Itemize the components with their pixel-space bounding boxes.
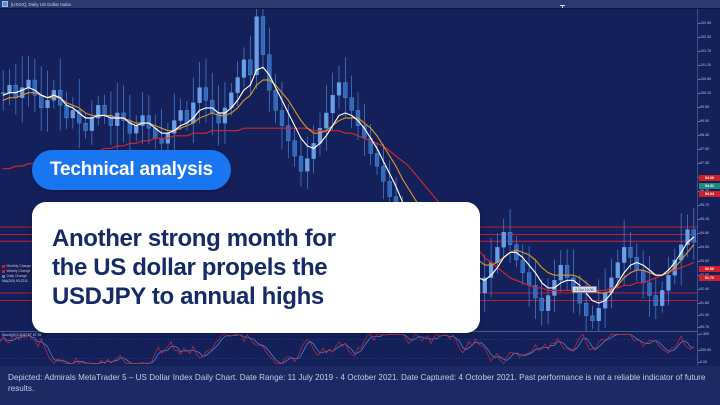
price-tick: 91.85 — [698, 301, 720, 306]
chart-titlebar[interactable]: [USDX], Daily US Dollar Index — [0, 0, 720, 9]
price-tick: 94.05 — [698, 245, 720, 250]
legend-color-swatch — [2, 275, 5, 278]
technical-analysis-badge[interactable]: Technical analysis — [32, 150, 231, 190]
headline-card: Another strong month for the US dollar p… — [32, 202, 480, 333]
price-tick: 102.30 — [698, 35, 720, 40]
oscillator-label: Stoch(20,3,3) 82.97 87.35 — [2, 333, 41, 337]
legend-item-ma: MA(200) 93.2211 — [2, 279, 31, 284]
price-tick: 95.70 — [698, 203, 720, 208]
price-tag: 94.60 — [699, 175, 720, 181]
price-tick: 97.35 — [698, 161, 720, 166]
price-tag: 92.00 — [699, 266, 720, 272]
legend-color-swatch — [2, 265, 5, 268]
price-tick: 93.50 — [698, 259, 720, 264]
price-tick: 90.75 — [698, 325, 720, 330]
price-tick: 102.95 — [698, 21, 720, 26]
oscillator-subwindow[interactable] — [0, 332, 697, 366]
price-scale-axis[interactable]: 102.95102.30101.75101.20100.65100.1099.5… — [697, 9, 720, 366]
chart-window-icon — [2, 1, 8, 7]
caption-bar: Depicted: Admirals MetaTrader 5 – US Dol… — [0, 366, 720, 405]
headline-line-1: Another strong month for — [52, 224, 336, 253]
chart-legend: Monthly Change Weekly Change Daily Chang… — [2, 264, 31, 284]
oscillator-svg — [0, 332, 697, 366]
subwindow-tick: 0.00 — [698, 360, 720, 365]
legend-color-swatch — [2, 270, 5, 273]
price-tick: 100.10 — [698, 91, 720, 96]
time-tag: 3 Oct 19:30 — [572, 286, 597, 293]
price-tag: 94.04 — [699, 191, 720, 197]
price-tick: 94.60 — [698, 231, 720, 236]
price-tick: 99.55 — [698, 105, 720, 110]
headline-line-3: USDJPY to annual highs — [52, 282, 336, 311]
price-tick: 99.00 — [698, 119, 720, 124]
headline-text: Another strong month for the US dollar p… — [32, 224, 356, 312]
price-tag: 91.70 — [699, 275, 720, 281]
price-tick: 98.45 — [698, 133, 720, 138]
subwindow-tick: 1.399 — [698, 332, 720, 337]
price-tick: 91.30 — [698, 313, 720, 318]
price-tag: 94.31 — [699, 183, 720, 189]
price-tick: 101.20 — [698, 63, 720, 68]
headline-line-2: the US dollar propels the — [52, 253, 336, 282]
subwindow-tick: 300.00 — [698, 348, 720, 353]
ma-label: MA(200) 93.2211 — [2, 279, 28, 284]
price-tick: 95.15 — [698, 217, 720, 222]
price-tick: 97.90 — [698, 147, 720, 152]
screenshot-root: [USDX], Daily US Dollar Index Monthly Ch… — [0, 0, 720, 405]
price-tick: 92.40 — [698, 287, 720, 292]
price-tick: 100.65 — [698, 77, 720, 82]
caption-text: Depicted: Admirals MetaTrader 5 – US Dol… — [8, 372, 712, 394]
crosshair-marker-icon — [560, 5, 565, 8]
badge-label: Technical analysis — [50, 159, 213, 181]
chart-title: [USDX], Daily US Dollar Index — [11, 0, 71, 9]
price-tick: 101.75 — [698, 49, 720, 54]
